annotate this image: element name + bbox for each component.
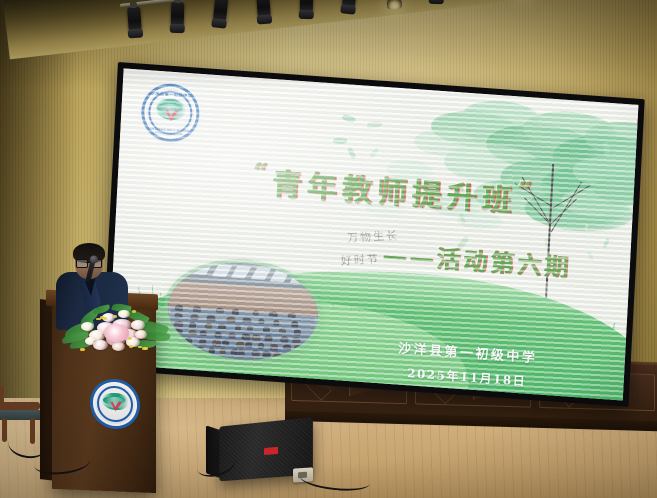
audience-member [174,321,183,327]
audience-member [174,329,183,335]
quote-close: ” [516,176,538,207]
audience-member [253,310,260,316]
grass-blade [403,307,405,314]
flower-accent [128,337,132,340]
spotlight-head [257,14,273,24]
audience-member [279,328,286,333]
audience-member [189,322,197,329]
grass-blade [519,314,521,322]
audience-member [294,329,301,335]
audience-member [252,350,261,356]
audience-member [172,345,181,352]
audience-member [212,340,221,347]
audience-member [172,337,180,344]
grass-blade [430,304,432,315]
flower-bloom [81,322,95,331]
audience-member [216,307,224,313]
scatter-leaf [342,113,356,123]
audience-member [282,353,291,360]
audience-member [265,335,273,341]
audience-member [207,315,216,322]
scatter-leaf [588,251,594,260]
grass-blade [332,303,334,309]
scatter-leaf [602,237,611,248]
school-crest-on-slide: 沙洋县第一初级中学 SHAYANG NO.1 JUNIOR MIDDLE SCH… [143,85,198,141]
slide-title-text: 青年教师提升班 [271,167,517,219]
grass-blade [351,302,352,310]
scatter-leaf [369,147,380,159]
side-chair [0,402,40,410]
grass-blade [504,317,506,321]
audience-member [219,348,226,355]
audience-member [242,333,251,340]
grass-blade [614,323,616,329]
audience-member [270,344,278,351]
audience-member [197,347,204,353]
audience-member [186,346,193,352]
grass-blade [560,319,562,325]
scatter-leaf [367,121,382,128]
grass-blade [415,303,417,315]
audience-member [175,305,183,311]
audience-member [236,341,245,347]
quote-open: “ [252,158,274,189]
flower-accent [129,345,133,348]
audience-member [246,326,253,332]
audience-member [199,339,206,346]
audience-member [258,318,265,324]
grass-blade [503,311,504,321]
grass-blade [479,308,481,320]
flower-bloom [135,330,147,339]
glasses-lens-left [76,259,88,268]
handwritten-line-2: 好时节 [340,250,380,268]
audience-member [235,325,241,331]
audience-member [238,349,245,355]
audience-member [193,306,201,312]
ceiling-light-strip [192,262,212,275]
screen-surface: 沙洋县第一初级中学 SHAYANG NO.1 JUNIOR MIDDLE SCH… [108,68,639,400]
inset-auditorium-photo [165,259,320,365]
spotlight-head [386,0,402,10]
crest-bottom-text: SHAYANG NO.1 JUNIOR MIDDLE SCHOOL [143,127,195,137]
audience-member [215,332,221,338]
flower-accent [132,310,136,313]
spotlight-head [170,24,185,33]
audience-member [283,344,291,350]
ceiling-light-strip [211,264,231,277]
audience-member [263,351,271,358]
audience-member [258,343,264,349]
stage-spotlight [300,0,313,14]
audience-member [208,347,215,354]
flower-accent [138,346,142,349]
audience-member [226,316,235,323]
lily-flower [104,324,129,341]
audience-member [291,321,298,327]
audience-member [175,313,183,319]
ceiling-light-strip [270,269,290,282]
stage-spotlight [213,0,229,24]
audience-member [252,334,261,341]
flower-bloom [112,342,126,351]
audience-member [205,323,212,329]
audience-member [263,327,270,333]
audience-member [200,331,207,337]
grass-blade [159,293,161,297]
audience-member [189,330,198,336]
audience-member [218,324,226,329]
stage-spotlight [386,0,401,5]
flower-accent [80,348,84,351]
audience-member [184,338,192,345]
audience-member [273,352,281,359]
flower-accent [96,318,100,321]
flower-accent [100,316,104,319]
presentation-slide: 沙洋县第一初级中学 SHAYANG NO.1 JUNIOR MIDDLE SCH… [108,68,639,400]
audience-member [280,336,289,343]
audience-member [223,340,230,346]
audience-member [293,345,301,351]
podium-flower-arrangement [62,300,166,372]
ceiling-light-strip [250,268,270,281]
grass-blade [359,306,361,310]
audience-member [190,314,199,320]
scatter-leaf [348,147,356,159]
led-display-screen[interactable]: 沙洋县第一初级中学 SHAYANG NO.1 JUNIOR MIDDLE SCH… [102,62,645,407]
scatter-leaf [333,137,348,145]
audience-member [287,312,295,318]
side-chair-back [0,386,4,408]
spotlight-head [428,0,443,4]
conference-hall-photo: 沙洋县第一初级中学 SHAYANG NO.1 JUNIOR MIDDLE SCH… [0,0,657,498]
spotlight-head [128,29,144,39]
audience-member [244,342,251,348]
audience-member [295,353,302,358]
spotlight-head [341,4,357,15]
flower-accent [113,315,117,318]
flower-bloom [118,310,129,318]
ceiling-light-strip [289,271,309,284]
audience-member [292,337,300,344]
stage-spotlight [256,0,271,19]
audience-member [269,311,278,317]
audience-member [228,333,236,339]
audience-member [242,317,251,323]
stage-spotlight [171,2,184,28]
ceiling-light-strip [173,261,193,274]
audience-member [232,309,239,315]
flower-accent [142,347,146,350]
audience-member [273,320,280,326]
side-chair-leg [2,418,7,442]
inset-audience [165,301,318,365]
spotlight-head [299,10,314,19]
speaker-brand-logo [264,447,278,455]
grass-blade [407,304,410,314]
stage-spotlight [127,7,142,34]
ceiling-light-strip [231,266,251,279]
